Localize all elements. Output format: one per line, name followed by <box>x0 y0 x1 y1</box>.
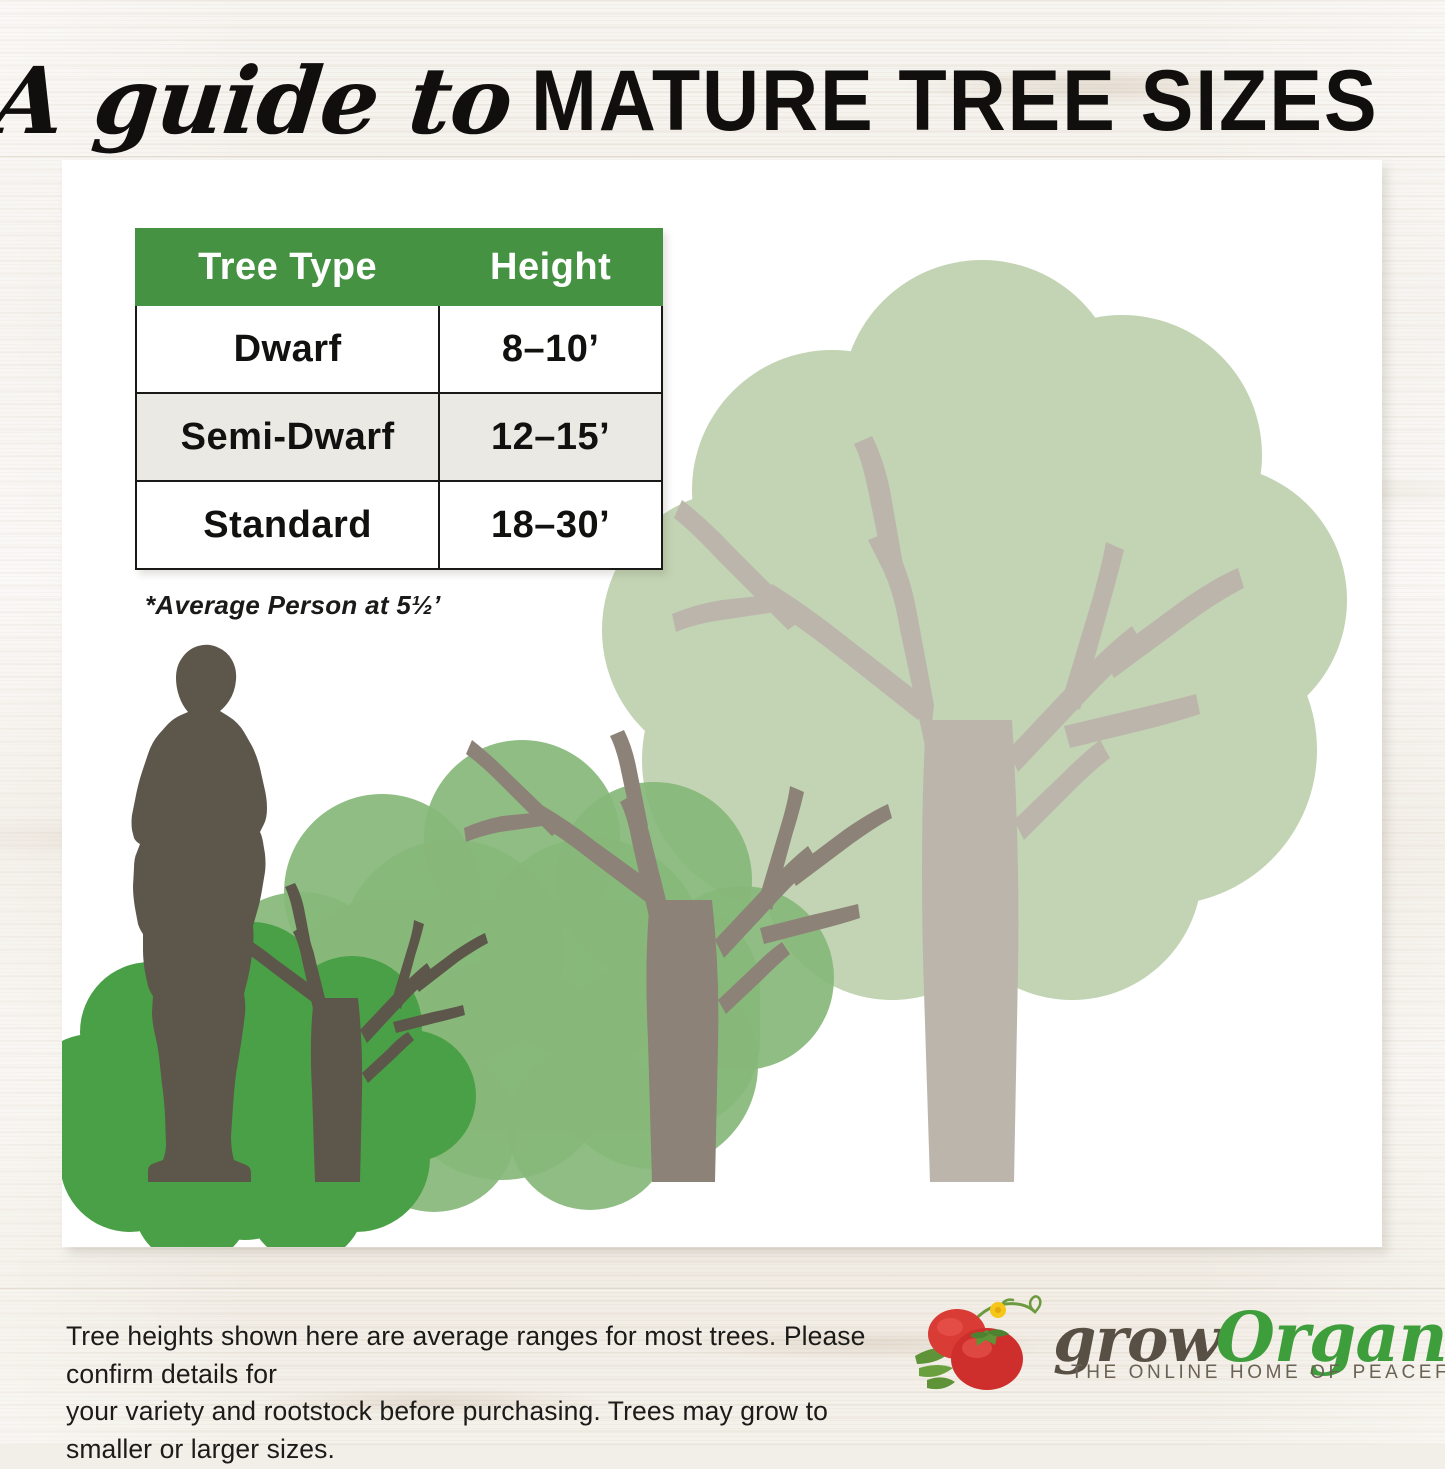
footer-line-1: Tree heights shown here are average rang… <box>66 1318 881 1393</box>
title-block-part: MATURE TREE SIZES <box>531 58 1378 144</box>
tree-size-table: Tree Type Height Dwarf 8–10’ Semi-Dwarf … <box>135 228 663 570</box>
page-title: A guide to MATURE TREE SIZES <box>0 46 1445 156</box>
cell-height: 8–10’ <box>439 305 662 393</box>
table-row: Standard 18–30’ <box>136 481 662 569</box>
cell-height: 18–30’ <box>439 481 662 569</box>
footer-line-2: your variety and rootstock before purcha… <box>66 1393 881 1468</box>
wood-seam <box>0 156 1445 159</box>
table-row: Semi-Dwarf 12–15’ <box>136 393 662 481</box>
cell-height: 12–15’ <box>439 393 662 481</box>
table-row: Dwarf 8–10’ <box>136 305 662 393</box>
title-script-part: A guide to <box>0 55 516 147</box>
footer-disclaimer: Tree heights shown here are average rang… <box>66 1318 881 1469</box>
logo-tagline: THE ONLINE HOME OF PEACEFUL VALLEY <box>1071 1362 1445 1384</box>
tomatoes-icon <box>905 1294 1055 1404</box>
cell-tree-type: Semi-Dwarf <box>136 393 439 481</box>
column-header-height: Height <box>439 229 662 305</box>
average-person-note: *Average Person at 5½’ <box>145 590 441 621</box>
infographic-root: A guide to MATURE TREE SIZES <box>0 0 1445 1445</box>
table-header-row: Tree Type Height <box>136 229 662 305</box>
cell-tree-type: Dwarf <box>136 305 439 393</box>
grow-organic-logo[interactable]: growOrganic.COM THE ONLINE HOME OF PEACE… <box>905 1290 1395 1410</box>
content-card: Tree Type Height Dwarf 8–10’ Semi-Dwarf … <box>62 160 1382 1247</box>
cell-tree-type: Standard <box>136 481 439 569</box>
column-header-tree-type: Tree Type <box>136 229 439 305</box>
